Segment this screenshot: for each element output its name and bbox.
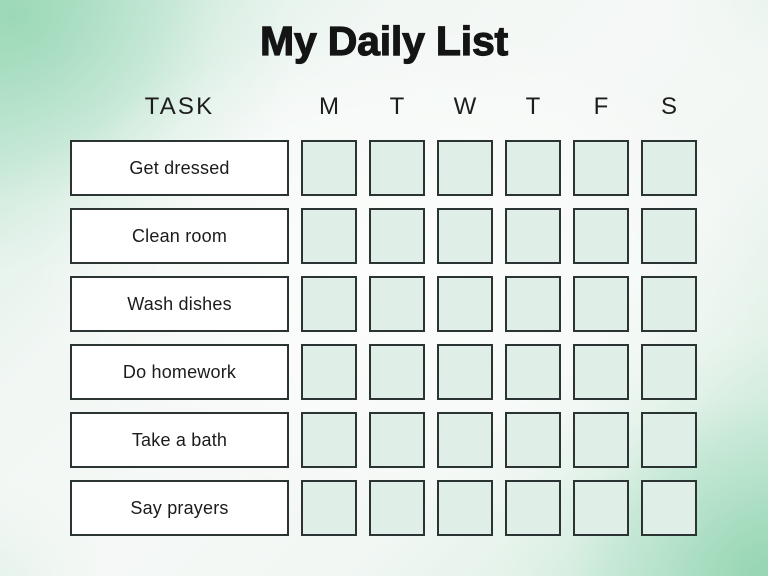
checkbox-cell[interactable] — [505, 480, 561, 536]
checkbox-cell[interactable] — [369, 480, 425, 536]
checkbox-cell[interactable] — [573, 344, 629, 400]
task-label: Say prayers — [130, 497, 228, 519]
table-row: Say prayers — [0, 480, 768, 536]
task-label: Wash dishes — [127, 293, 232, 315]
checkbox-cell[interactable] — [505, 412, 561, 468]
checkbox-cell[interactable] — [641, 208, 697, 264]
task-label: Do homework — [123, 361, 236, 383]
chore-grid: Get dressedClean roomWash dishesDo homew… — [0, 0, 768, 576]
table-row: Take a bath — [0, 412, 768, 468]
checkbox-cell[interactable] — [301, 480, 357, 536]
checkbox-cell[interactable] — [437, 480, 493, 536]
checkbox-cell[interactable] — [641, 344, 697, 400]
checkbox-cell[interactable] — [641, 480, 697, 536]
checkbox-cell[interactable] — [573, 208, 629, 264]
checkbox-cell[interactable] — [505, 344, 561, 400]
task-name-cell[interactable]: Clean room — [70, 208, 289, 264]
table-row: Wash dishes — [0, 276, 768, 332]
task-label: Get dressed — [129, 157, 229, 179]
task-name-cell[interactable]: Get dressed — [70, 140, 289, 196]
table-row: Do homework — [0, 344, 768, 400]
checkbox-cell[interactable] — [641, 276, 697, 332]
table-row: Clean room — [0, 208, 768, 264]
checkbox-cell[interactable] — [573, 412, 629, 468]
task-name-cell[interactable]: Take a bath — [70, 412, 289, 468]
task-label: Clean room — [132, 225, 227, 247]
checkbox-cell[interactable] — [573, 480, 629, 536]
task-name-cell[interactable]: Say prayers — [70, 480, 289, 536]
checkbox-cell[interactable] — [301, 208, 357, 264]
checkbox-cell[interactable] — [573, 276, 629, 332]
checkbox-cell[interactable] — [505, 140, 561, 196]
checkbox-cell[interactable] — [573, 140, 629, 196]
checkbox-cell[interactable] — [641, 140, 697, 196]
checkbox-cell[interactable] — [437, 344, 493, 400]
checkbox-cell[interactable] — [301, 276, 357, 332]
checkbox-cell[interactable] — [369, 208, 425, 264]
checkbox-cell[interactable] — [437, 412, 493, 468]
checkbox-cell[interactable] — [505, 276, 561, 332]
table-row: Get dressed — [0, 140, 768, 196]
task-name-cell[interactable]: Do homework — [70, 344, 289, 400]
checkbox-cell[interactable] — [437, 276, 493, 332]
checkbox-cell[interactable] — [301, 140, 357, 196]
checkbox-cell[interactable] — [641, 412, 697, 468]
task-label: Take a bath — [132, 429, 227, 451]
checkbox-cell[interactable] — [437, 140, 493, 196]
checkbox-cell[interactable] — [437, 208, 493, 264]
checkbox-cell[interactable] — [369, 412, 425, 468]
checkbox-cell[interactable] — [369, 276, 425, 332]
checkbox-cell[interactable] — [369, 344, 425, 400]
checkbox-cell[interactable] — [505, 208, 561, 264]
checkbox-cell[interactable] — [369, 140, 425, 196]
task-name-cell[interactable]: Wash dishes — [70, 276, 289, 332]
checkbox-cell[interactable] — [301, 412, 357, 468]
checkbox-cell[interactable] — [301, 344, 357, 400]
daily-list-chore-chart: My Daily List TASK MTWTFS Get dressedCle… — [0, 0, 768, 576]
